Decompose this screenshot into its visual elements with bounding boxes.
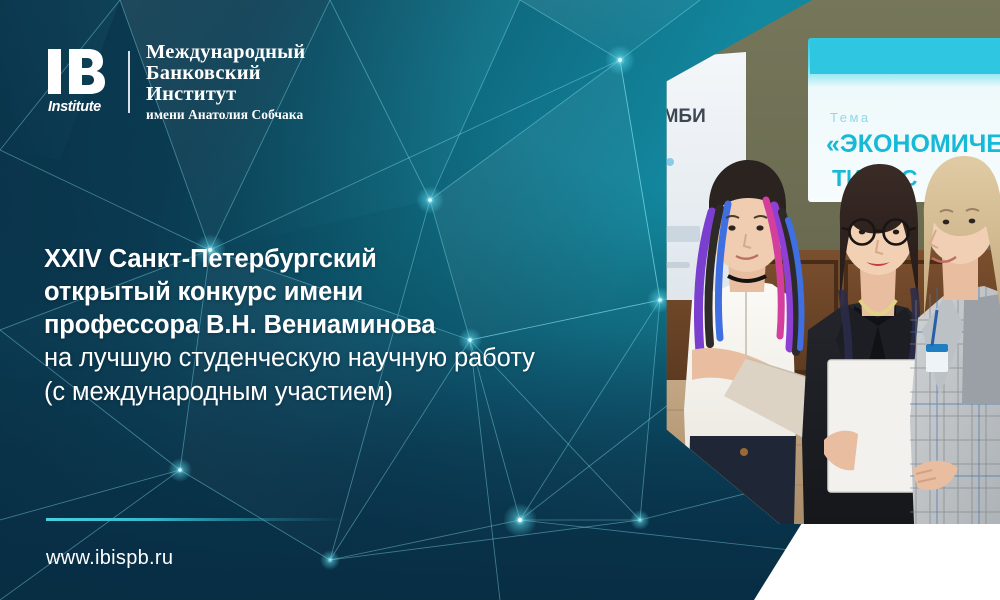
website-url[interactable]: www.ibispb.ru — [46, 547, 346, 570]
footer-accent-rule — [46, 518, 346, 521]
svg-text:Institute: Institute — [48, 99, 101, 115]
logo-divider — [128, 51, 130, 113]
headline-line-4: на лучшую студенческую научную работу — [44, 342, 604, 375]
headline-line-2: открытый конкурс имени — [44, 276, 604, 309]
institute-name-subline: имени Анатолия Собчака — [146, 108, 305, 122]
institute-name: Международный Банковский Институт имени … — [146, 42, 305, 121]
screen-label: Тема — [830, 110, 871, 125]
institute-name-line-3: Институт — [146, 84, 305, 105]
headline-line-5: (с международным участием) — [44, 376, 604, 409]
headline-line-3: профессора В.Н. Вениаминова — [44, 309, 604, 342]
institute-logo-lockup[interactable]: Institute Международный Банковский Инсти… — [46, 42, 305, 121]
footer: www.ibispb.ru — [46, 518, 346, 570]
institute-name-line-1: Международный — [146, 42, 305, 63]
page-title: XXIV Санкт-Петербургский открытый конкур… — [44, 243, 604, 409]
institute-name-line-2: Банковский — [146, 63, 305, 84]
ib-institute-logo-icon: Institute — [46, 47, 114, 117]
event-announcement-banner: Institute Международный Банковский Инсти… — [0, 0, 1000, 600]
headline-line-1: XXIV Санкт-Петербургский — [44, 243, 604, 276]
screen-title: «ЭКОНОМИЧЕСК — [826, 130, 1000, 158]
